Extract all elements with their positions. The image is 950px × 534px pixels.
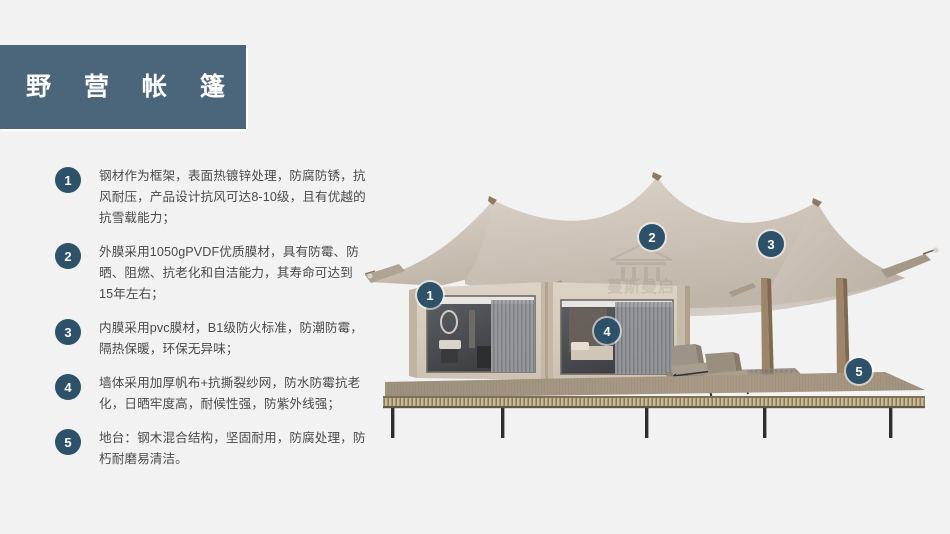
slide-root: 野 营 帐 篷 1 钢材作为框架，表面热镀锌处理，防腐防锈，抗风耐压，产品设计抗…	[0, 0, 950, 534]
feature-text-1: 钢材作为框架，表面热镀锌处理，防腐防锈，抗风耐压，产品设计抗风可达8-10级，且…	[99, 166, 367, 229]
feature-badge-3: 3	[55, 319, 81, 345]
feature-badge-1: 1	[55, 167, 81, 193]
page-title: 野 营 帐 篷	[0, 75, 238, 100]
tent-illustration-image	[365, 150, 950, 440]
list-item: 4 墙体采用加厚帆布+抗撕裂纱网，防水防霉抗老化，日晒牢度高，耐候性强，防紫外线…	[55, 373, 375, 415]
callout-badge-5[interactable]: 5	[846, 358, 872, 384]
feature-text-5: 地台：钢木混合结构，坚固耐用，防腐处理，防朽耐磨易清洁。	[99, 428, 367, 470]
feature-badge-2: 2	[55, 243, 81, 269]
list-item: 2 外膜采用1050gPVDF优质膜材，具有防霉、防晒、阻燃、抗老化和自洁能力，…	[55, 242, 375, 305]
feature-badge-4: 4	[55, 374, 81, 400]
title-block: 野 营 帐 篷	[0, 45, 246, 129]
callout-badge-2[interactable]: 2	[639, 224, 665, 250]
callout-badge-1[interactable]: 1	[417, 282, 443, 308]
list-item: 3 内膜采用pvc膜材，B1级防火标准，防潮防霉，隔热保暖，环保无异味；	[55, 318, 375, 360]
feature-badge-5: 5	[55, 429, 81, 455]
list-item: 5 地台：钢木混合结构，坚固耐用，防腐处理，防朽耐磨易清洁。	[55, 428, 375, 470]
callout-badge-3[interactable]: 3	[758, 231, 784, 257]
feature-text-3: 内膜采用pvc膜材，B1级防火标准，防潮防霉，隔热保暖，环保无异味；	[99, 318, 367, 360]
list-item: 1 钢材作为框架，表面热镀锌处理，防腐防锈，抗风耐压，产品设计抗风可达8-10级…	[55, 166, 375, 229]
feature-list: 1 钢材作为框架，表面热镀锌处理，防腐防锈，抗风耐压，产品设计抗风可达8-10级…	[55, 166, 375, 483]
callout-badge-4[interactable]: 4	[594, 318, 620, 344]
feature-text-2: 外膜采用1050gPVDF优质膜材，具有防霉、防晒、阻燃、抗老化和自洁能力，其寿…	[99, 242, 367, 305]
feature-text-4: 墙体采用加厚帆布+抗撕裂纱网，防水防霉抗老化，日晒牢度高，耐候性强，防紫外线强；	[99, 373, 367, 415]
